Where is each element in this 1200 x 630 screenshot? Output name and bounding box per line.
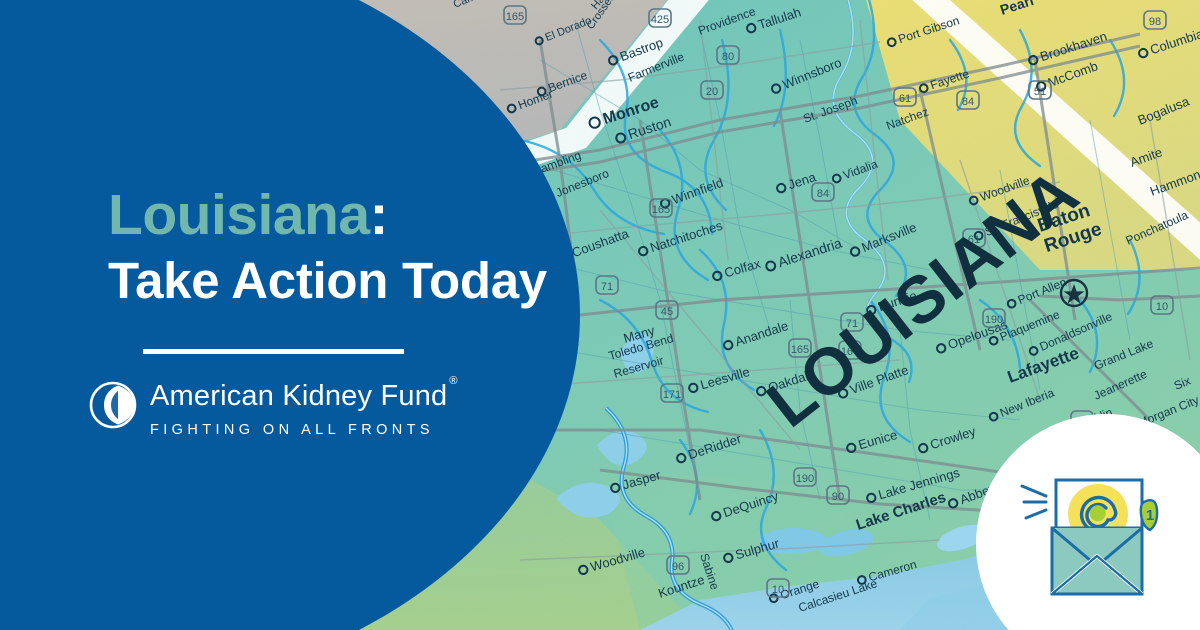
map-city-label: Bogalusa: [1136, 93, 1193, 128]
highway-shield-icon: 96: [667, 556, 689, 574]
map-city-label: Alexandria: [764, 235, 844, 275]
headline-line-1: Louisiana:: [108, 186, 538, 246]
map-city-label: DeQuincy: [710, 488, 781, 524]
map-city-name: New Iberia: [998, 385, 1057, 420]
highway-shield-label: 84: [817, 188, 829, 200]
highway-shield-label: 190: [796, 473, 814, 485]
map-city-name: Brookhaven: [1038, 29, 1109, 65]
highway-shield-label: 190: [985, 314, 1003, 326]
map-city-dot-icon: [936, 343, 947, 354]
highway-shield-icon: 190: [794, 468, 816, 486]
map-city-name: Pearl: [998, 0, 1036, 18]
map-city-label: Vidalia: [831, 157, 880, 186]
map-city-dot-icon: [610, 483, 620, 493]
map-city-dot-icon: [948, 498, 959, 509]
capital-star-icon: [1061, 280, 1087, 306]
highway-shield-label: 90: [832, 491, 844, 503]
map-city-dot-icon: [712, 271, 722, 281]
map-city-label: Columbia: [1137, 26, 1200, 61]
highway-shield-icon: 84: [957, 91, 979, 109]
map-city-name: Hammond: [1148, 164, 1200, 199]
map-city-label: Natchez: [884, 105, 930, 133]
map-city-label: DeRidder: [675, 431, 744, 466]
map-city-label: New Iberia: [987, 385, 1056, 424]
map-city-label: Marksville: [848, 219, 918, 259]
logo-tagline: FIGHTING ON ALL FRONTS: [150, 422, 456, 438]
map-city-name: Amite: [1128, 144, 1164, 169]
map-city-name: Jena: [786, 169, 818, 192]
highway-shield-label: 171: [663, 389, 681, 401]
map-city-dot-icon: [1029, 346, 1039, 356]
map-city-dot-icon: [746, 23, 756, 33]
map-city-name: Cameron: [867, 557, 918, 584]
map-city-name: Woodville: [589, 544, 647, 574]
kidney-circle-icon: [88, 380, 138, 430]
map-city-dot-icon: [688, 383, 698, 393]
map-city-dot-icon: [771, 83, 782, 94]
map-city-label: Woodville: [577, 544, 647, 577]
map-city-dot-icon: [850, 246, 861, 257]
headline-divider: [143, 349, 404, 354]
headline-block: Louisiana: Take Action Today: [0, 0, 560, 630]
map-city-label: Hammond: [1148, 164, 1200, 199]
highway-shield-label: 20: [706, 86, 718, 98]
map-city-label: Providence: [696, 4, 758, 38]
highway-shield-icon: 171: [661, 384, 683, 402]
unread-count-text: 1: [1146, 507, 1154, 524]
map-city-name: Sulphur: [734, 535, 782, 562]
map-city-name: Winnfield: [670, 175, 725, 207]
headline-wrap: Louisiana: Take Action Today: [108, 186, 538, 309]
map-city-dot-icon: [1028, 55, 1038, 65]
map-city-name: Providence: [696, 4, 758, 38]
highway-shield-label: 61: [899, 93, 911, 105]
map-city-dot-icon: [578, 565, 588, 575]
map-city-dot-icon: [723, 340, 733, 350]
map-city-label: Colfax: [711, 256, 763, 284]
highway-shield-label: 10: [772, 584, 784, 596]
map-city-name: Jonesboro: [554, 166, 612, 200]
map-city-name: Coushatta: [570, 226, 632, 261]
map-city-name: Leesville: [699, 364, 752, 392]
map-city-dot-icon: [919, 83, 929, 93]
map-city-label: Eunice: [845, 427, 899, 456]
akf-logo[interactable]: American Kidney Fund® FIGHTING ON ALL FR…: [88, 378, 456, 438]
map-city-name: Alexandria: [776, 235, 844, 271]
envelope-at-icon[interactable]: 1: [1012, 458, 1182, 608]
highway-shield-label: 51: [1034, 86, 1046, 98]
map-city-label: Amite: [1128, 144, 1164, 169]
map-city-name: Jeanerette: [1092, 367, 1150, 403]
map-city-dot-icon: [1138, 48, 1148, 58]
map-city-dot-icon: [676, 453, 686, 463]
map-city-name: Tallulah: [756, 4, 803, 32]
logo-org-name-text: American Kidney Fund: [150, 380, 447, 412]
map-city-dot-icon: [776, 183, 786, 193]
highway-shield-icon: 84: [812, 183, 834, 201]
map-city-label: Jeanerette: [1092, 367, 1150, 403]
map-city-label: Natchitoches: [637, 218, 725, 259]
map-city-name: Columbia: [1148, 26, 1200, 57]
map-city-name: Six: [1172, 374, 1193, 393]
map-city-label: Anandale: [722, 318, 790, 353]
map-city-dot-icon: [711, 511, 721, 521]
map-city-label: Six: [1172, 374, 1193, 393]
map-city-name: Anandale: [733, 318, 790, 349]
map-city-name: Natchez: [884, 105, 930, 133]
map-city-dot-icon: [608, 55, 619, 66]
map-city-label: Pearl: [998, 0, 1036, 18]
map-city-label: Ponchatoula: [1124, 208, 1191, 248]
map-city-label: Winnsboro: [769, 55, 843, 97]
highway-shield-icon: 425: [649, 9, 671, 27]
highway-shield-label: 80: [722, 51, 734, 63]
map-city-name: McComb: [1046, 58, 1100, 90]
map-city-label: Port Allen: [1005, 275, 1068, 311]
social-share-card: El DoradoCrossettHamburgCamdenBastropFar…: [0, 0, 1200, 630]
map-city-label: St. Joseph: [801, 93, 859, 126]
map-city-name: Marksville: [859, 219, 918, 255]
highway-shield-label: 425: [651, 14, 669, 26]
highway-shield-label: 45: [661, 306, 673, 318]
map-city-name: Natchitoches: [648, 218, 725, 256]
motion-lines-icon: [1022, 486, 1046, 518]
map-city-label: Leesville: [687, 364, 751, 396]
map-city-name: Fayette: [929, 66, 972, 92]
map-city-dot-icon: [615, 132, 626, 143]
highway-shield-label: 84: [962, 96, 974, 108]
highway-shield-label: 96: [672, 561, 684, 573]
map-city-dot-icon: [846, 443, 856, 453]
map-city-label: Sulphur: [722, 535, 781, 565]
headline-state: Louisiana: [108, 183, 370, 247]
highway-shield-label: 10: [1156, 301, 1168, 313]
headline-line-2: Take Action Today: [108, 252, 538, 309]
highway-shield-icon: 80: [717, 46, 739, 64]
map-city-name: DeQuincy: [721, 488, 780, 520]
highway-shield-icon: 190: [983, 309, 1005, 327]
map-city-name: Ponchatoula: [1124, 208, 1191, 248]
map-city-dot-icon: [969, 196, 979, 206]
map-city-dot-icon: [866, 493, 876, 503]
map-city-label: Port Gibson: [886, 13, 961, 49]
map-city-name: Jasper: [621, 467, 663, 492]
map-city-name: Kountze: [656, 572, 706, 601]
map-city-dot-icon: [638, 246, 648, 256]
map-city-label: Jasper: [609, 467, 663, 496]
highway-shield-label: 165: [652, 204, 670, 216]
map-city-name: Winnsboro: [780, 55, 843, 92]
headline-colon: :: [370, 183, 388, 247]
map-city-name: Port Gibson: [897, 13, 962, 46]
highway-shield-icon: 71: [596, 276, 618, 294]
map-city-name: St. Joseph: [801, 93, 859, 126]
map-city-name: Eunice: [857, 427, 899, 452]
map-city-dot-icon: [989, 412, 999, 422]
highway-shield-icon: 90: [827, 486, 849, 504]
highway-shield-icon: 10: [1151, 296, 1173, 314]
map-city-name: Bogalusa: [1136, 93, 1193, 128]
highway-shield-label: 98: [1149, 16, 1161, 28]
highway-shield-icon: 61: [894, 88, 916, 106]
highway-shield-icon: 20: [701, 81, 723, 99]
logo-org-name: American Kidney Fund®: [150, 382, 456, 411]
map-city-dot-icon: [832, 174, 842, 184]
map-city-label: Grand Lake: [1092, 336, 1156, 373]
map-city-dot-icon: [887, 37, 897, 47]
map-city-dot-icon: [918, 443, 928, 453]
map-city-label: Cameron: [856, 557, 918, 587]
highway-shield-icon: 98: [1144, 11, 1166, 29]
map-city-label: Crowley: [917, 423, 978, 456]
highway-shield-label: 71: [601, 281, 613, 293]
map-city-dot-icon: [588, 116, 601, 129]
map-city-name: Colfax: [723, 256, 763, 281]
highway-shield-icon: 45: [656, 301, 678, 319]
map-city-name: Crowley: [928, 423, 978, 452]
map-city-name: DeRidder: [686, 431, 743, 462]
map-city-label: Kountze: [656, 572, 706, 601]
map-city-name: Vidalia: [841, 157, 880, 183]
map-city-name: Grand Lake: [1092, 336, 1156, 373]
map-city-dot-icon: [1007, 299, 1017, 309]
logo-text-block: American Kidney Fund® FIGHTING ON ALL FR…: [150, 378, 456, 438]
map-city-label: Brookhaven: [1027, 29, 1109, 68]
map-city-dot-icon: [765, 260, 776, 271]
map-city-dot-icon: [723, 553, 733, 563]
registered-mark-icon: ®: [449, 375, 457, 387]
